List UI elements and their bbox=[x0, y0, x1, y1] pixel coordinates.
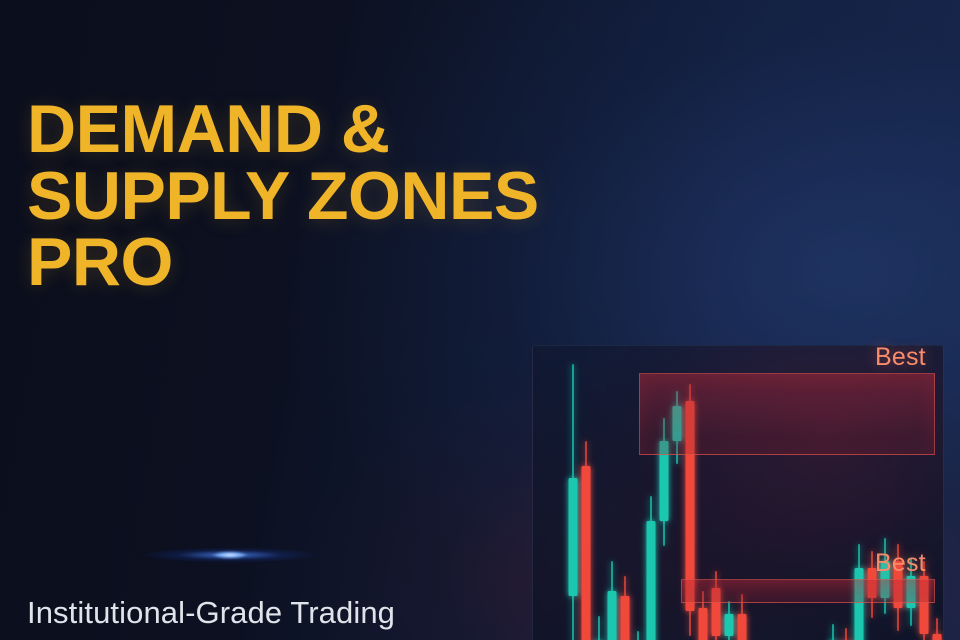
poster-canvas: Demand & Supply Zones Pro Institutional-… bbox=[0, 0, 960, 640]
hero-subtitle: Institutional-Grade Trading Indicator fo… bbox=[27, 592, 547, 640]
chart-panel: BestBestBest bbox=[532, 345, 944, 640]
headline-line-2: Supply Zones bbox=[27, 163, 547, 230]
supply-zone-mid-label: Best bbox=[875, 549, 926, 578]
subtitle-line-1: Institutional-Grade Trading bbox=[27, 592, 547, 634]
page-title: Demand & Supply Zones Pro bbox=[27, 96, 547, 296]
lens-flare-icon bbox=[115, 545, 345, 565]
supply-zone-top-label: Best bbox=[875, 343, 926, 372]
headline-line-3: Pro bbox=[27, 229, 547, 296]
hero-text-block: Demand & Supply Zones Pro bbox=[27, 96, 547, 296]
headline-line-1: Demand & bbox=[27, 96, 547, 163]
supply-zone-mid bbox=[681, 579, 935, 603]
subtitle-line-2: Indicator for Retail Traders bbox=[27, 633, 547, 640]
supply-zone-top bbox=[639, 373, 935, 455]
